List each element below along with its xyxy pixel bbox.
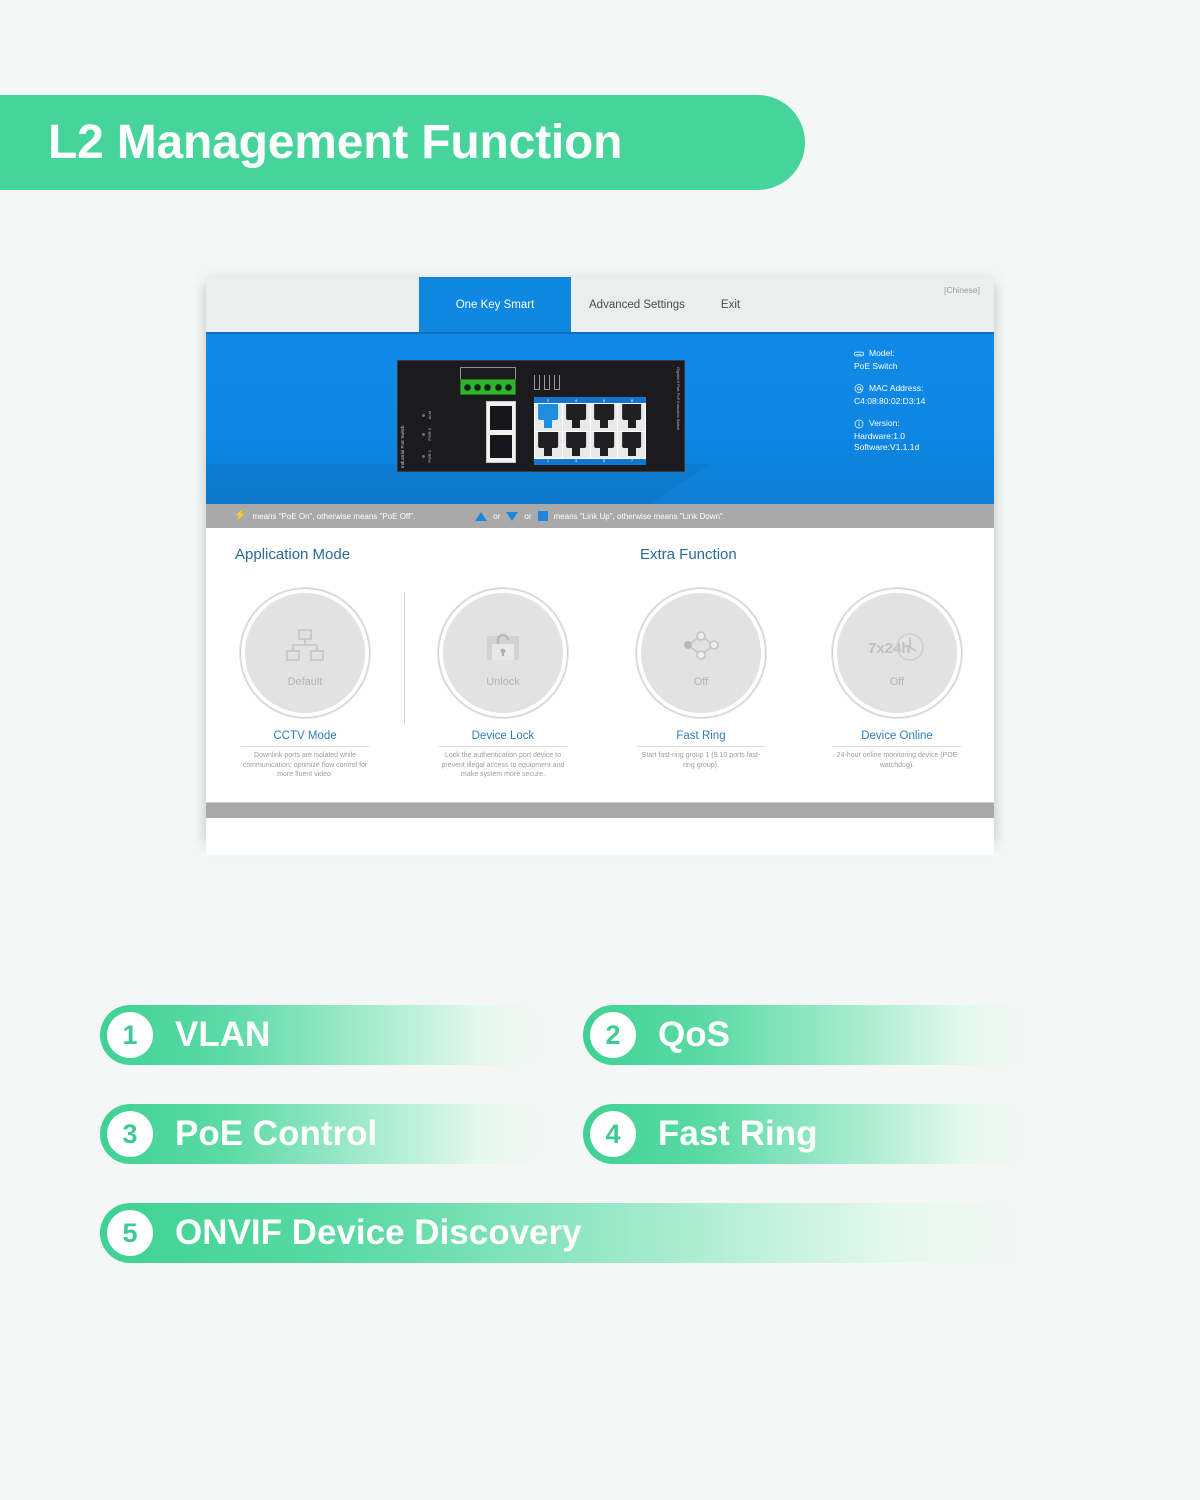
terminal-screw-icon bbox=[505, 384, 512, 391]
at-icon bbox=[854, 384, 864, 394]
feature-number: 3 bbox=[107, 1111, 153, 1157]
terminal-screw-icon bbox=[484, 384, 491, 391]
led-dot-icon bbox=[422, 455, 425, 458]
rj45-port-matrix bbox=[534, 403, 646, 459]
page-title-banner: L2 Management Function bbox=[0, 95, 805, 190]
card-title-fast-ring[interactable]: Fast Ring bbox=[633, 730, 769, 746]
ui-footer-blank bbox=[206, 818, 994, 855]
card-rule bbox=[833, 746, 961, 747]
square-icon bbox=[538, 511, 548, 521]
page-title: L2 Management Function bbox=[48, 115, 622, 170]
feature-label: VLAN bbox=[175, 1015, 270, 1055]
device-info-panel: Model: PoE Switch MAC Address: C4:08:80:… bbox=[844, 332, 994, 465]
language-switch-link[interactable]: [Chinese] bbox=[944, 285, 980, 295]
card-fast-ring: Off Fast Ring Start fast-ring group 1 (9… bbox=[633, 588, 769, 770]
switch-icon bbox=[854, 349, 864, 359]
triangle-up-icon bbox=[475, 512, 487, 521]
card-desc-device-online: 24-hour online monitoring device (POE wa… bbox=[829, 751, 965, 770]
device-brand-label: Industrial PoE Switch bbox=[400, 364, 416, 468]
padlock-icon bbox=[484, 625, 522, 669]
feature-number: 2 bbox=[590, 1012, 636, 1058]
port-number: 3 bbox=[562, 458, 590, 464]
fast-ring-toggle-button[interactable]: Off bbox=[636, 588, 766, 718]
rj45-port[interactable] bbox=[591, 432, 618, 459]
device-banner: Industrial PoE Switch Gigabit 8 Port PoE… bbox=[206, 332, 994, 504]
tab-exit[interactable]: Exit bbox=[703, 277, 758, 332]
feature-item-qos[interactable]: 2 QoS bbox=[583, 1005, 1030, 1065]
device-lock-state: Unlock bbox=[486, 676, 520, 688]
device-info-model: Model: PoE Switch bbox=[854, 348, 994, 372]
led-dot-icon bbox=[422, 414, 425, 417]
feature-item-fast-ring[interactable]: 4 Fast Ring bbox=[583, 1104, 1030, 1164]
ui-footer-bar bbox=[206, 802, 994, 818]
one-key-smart-content: Application Mode Extra Function De bbox=[206, 528, 994, 802]
card-device-lock: Unlock Device Lock Lock the authenticati… bbox=[435, 588, 571, 780]
legend-or-1: or bbox=[493, 512, 500, 521]
rj45-port[interactable] bbox=[618, 432, 645, 459]
feature-row-3: 5 ONVIF Device Discovery bbox=[100, 1203, 1100, 1263]
tab-bar-spacer bbox=[206, 277, 419, 332]
terminal-wiring-bracket bbox=[460, 367, 516, 379]
device-led-group: ALM PWR 2 PWR 1 bbox=[422, 411, 448, 472]
rj45-port[interactable] bbox=[563, 404, 590, 431]
legend-poe-text: means "PoE On", otherwise means "PoE Off… bbox=[252, 512, 415, 521]
device-info-mac-value: C4:08:80:02:D3:14 bbox=[854, 396, 994, 408]
section-title-application-mode: Application Mode bbox=[235, 546, 350, 563]
device-info-version-head: Version: bbox=[854, 418, 994, 430]
fast-ring-state: Off bbox=[694, 676, 708, 688]
port-number: 7 bbox=[618, 458, 646, 464]
device-info-mac-label: MAC Address: bbox=[869, 383, 923, 395]
relay-contact-icon bbox=[544, 375, 550, 390]
device-info-software-value: Software:V1.1.1d bbox=[854, 442, 994, 454]
device-info-version-label: Version: bbox=[869, 418, 900, 430]
device-lock-toggle-button[interactable]: Unlock bbox=[438, 588, 568, 718]
section-divider bbox=[404, 592, 405, 724]
relay-contact-icon bbox=[534, 375, 540, 390]
card-title-cctv-mode[interactable]: CCTV Mode bbox=[237, 730, 373, 746]
terminal-screw-icon bbox=[495, 384, 502, 391]
feature-row-2: 3 PoE Control 4 Fast Ring bbox=[100, 1104, 1100, 1164]
led-label: PWR 1 bbox=[427, 450, 432, 463]
relay-contacts-group bbox=[534, 375, 560, 390]
port-number-row-bottom: 1 3 5 7 bbox=[534, 458, 646, 464]
legend-or-2: or bbox=[524, 512, 531, 521]
led-label: PWR 2 bbox=[427, 428, 432, 441]
card-rule bbox=[241, 746, 369, 747]
led-alm: ALM bbox=[422, 411, 448, 419]
led-dot-icon bbox=[422, 433, 425, 436]
card-device-online: 7x24h Off Device Online 24-hour online m… bbox=[829, 588, 965, 770]
rj45-port[interactable] bbox=[535, 432, 562, 459]
feature-item-vlan[interactable]: 1 VLAN bbox=[100, 1005, 547, 1065]
card-desc-device-lock: Lock the authentication port device to p… bbox=[435, 751, 571, 780]
device-info-model-label: Model: bbox=[869, 348, 895, 360]
port-number: 5 bbox=[590, 458, 618, 464]
port-status-legend: ⚡ means "PoE On", otherwise means "PoE O… bbox=[206, 504, 994, 528]
led-pwr2: PWR 2 bbox=[422, 428, 448, 441]
rj45-port[interactable] bbox=[591, 404, 618, 431]
device-online-toggle-button[interactable]: 7x24h Off bbox=[832, 588, 962, 718]
feature-item-poe-control[interactable]: 3 PoE Control bbox=[100, 1104, 547, 1164]
device-model-label: Gigabit 8 Port PoE Industrial Switch bbox=[667, 367, 681, 467]
power-terminal-block bbox=[460, 379, 516, 395]
sfp-slot-icon bbox=[490, 406, 512, 430]
cctv-mode-state: Default bbox=[288, 676, 323, 688]
device-info-mac-head: MAC Address: bbox=[854, 383, 994, 395]
rj45-port-group: 2 4 6 8 1 3 5 bbox=[534, 397, 646, 465]
led-pwr1: PWR 1 bbox=[422, 450, 448, 463]
feature-number: 5 bbox=[107, 1210, 153, 1256]
ring-topology-icon bbox=[679, 625, 723, 669]
feature-item-onvif-device-discovery[interactable]: 5 ONVIF Device Discovery bbox=[100, 1203, 1030, 1263]
lightning-bolt-icon: ⚡ bbox=[234, 511, 246, 521]
clock-7x24-icon: 7x24h bbox=[866, 625, 928, 669]
feature-row-1: 1 VLAN 2 QoS bbox=[100, 1005, 1100, 1065]
feature-label: ONVIF Device Discovery bbox=[175, 1213, 582, 1253]
card-title-device-online[interactable]: Device Online bbox=[829, 730, 965, 746]
card-title-device-lock[interactable]: Device Lock bbox=[435, 730, 571, 746]
rj45-port[interactable] bbox=[618, 404, 645, 431]
switch-web-ui-screenshot: One Key Smart Advanced Settings Exit [Ch… bbox=[206, 277, 994, 839]
rj45-port[interactable] bbox=[563, 432, 590, 459]
tab-advanced-settings[interactable]: Advanced Settings bbox=[571, 277, 703, 332]
device-info-model-head: Model: bbox=[854, 348, 994, 360]
triangle-down-icon bbox=[506, 512, 518, 521]
feature-list: 1 VLAN 2 QoS 3 PoE Control 4 Fast Ring 5… bbox=[100, 1005, 1100, 1302]
led-label: ALM bbox=[427, 411, 432, 419]
terminal-screw-icon bbox=[464, 384, 471, 391]
feature-label: QoS bbox=[658, 1015, 730, 1055]
relay-contact-icon bbox=[554, 375, 560, 390]
switch-device-image: Industrial PoE Switch Gigabit 8 Port PoE… bbox=[397, 360, 685, 472]
network-topology-icon bbox=[285, 625, 325, 669]
rj45-port[interactable] bbox=[535, 404, 562, 431]
device-info-hardware-value: Hardware:1.0 bbox=[854, 431, 994, 443]
feature-number: 1 bbox=[107, 1012, 153, 1058]
terminal-screw-icon bbox=[474, 384, 481, 391]
info-icon bbox=[854, 419, 864, 429]
port-number: 1 bbox=[534, 458, 562, 464]
device-info-mac: MAC Address: C4:08:80:02:D3:14 bbox=[854, 383, 994, 407]
section-title-extra-function: Extra Function bbox=[640, 546, 737, 563]
feature-number: 4 bbox=[590, 1111, 636, 1157]
feature-label: Fast Ring bbox=[658, 1114, 817, 1154]
legend-link-text: means "Link Up", otherwise means "Link D… bbox=[554, 512, 725, 521]
card-rule bbox=[439, 746, 567, 747]
card-cctv-mode: Default CCTV Mode Downlink ports are iso… bbox=[237, 588, 373, 780]
feature-label: PoE Control bbox=[175, 1114, 377, 1154]
device-info-model-value: PoE Switch bbox=[854, 361, 994, 373]
card-rule bbox=[637, 746, 765, 747]
svg-text:7x24h: 7x24h bbox=[868, 640, 911, 657]
device-info-version: Version: Hardware:1.0 Software:V1.1.1d bbox=[854, 418, 994, 454]
device-online-state: Off bbox=[890, 676, 904, 688]
cctv-mode-toggle-button[interactable]: Default bbox=[240, 588, 370, 718]
sfp-slot-group bbox=[486, 401, 516, 463]
tab-one-key-smart[interactable]: One Key Smart bbox=[419, 277, 571, 332]
card-desc-fast-ring: Start fast-ring group 1 (9.10 ports fast… bbox=[633, 751, 769, 770]
card-desc-cctv-mode: Downlink ports are isolated while commun… bbox=[237, 751, 373, 780]
sfp-slot-icon bbox=[490, 435, 512, 459]
ui-tab-bar: One Key Smart Advanced Settings Exit [Ch… bbox=[206, 277, 994, 332]
